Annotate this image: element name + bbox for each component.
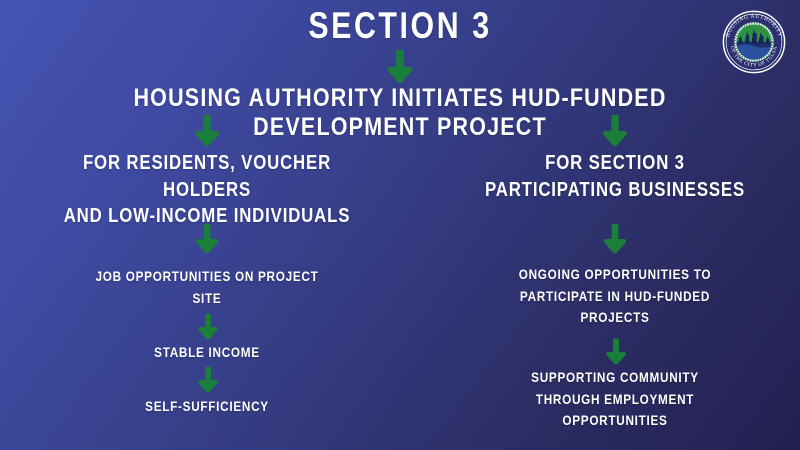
left-branch-step-stable-income: STABLE INCOME [39, 342, 375, 364]
page-title: SECTION 3 [72, 6, 728, 47]
left-branch-step-job-opportunities: JOB OPPORTUNITIES ON PROJECT SITE [39, 266, 375, 309]
arrow-down-icon-title-to-heading [382, 50, 418, 84]
arrow-down-icon-right-audience-to-ongoing [599, 222, 631, 256]
left-branch-audience: FOR RESIDENTS, VOUCHER HOLDERS AND LOW-I… [39, 150, 375, 230]
right-branch-step-ongoing-opportunities: ONGOING OPPORTUNITIES TO PARTICIPATE IN … [447, 264, 783, 329]
section-3-infographic: HOUSING AUTHORITY OF THE CITY OF TULSA S… [0, 0, 800, 450]
right-branch-step-supporting-community: SUPPORTING COMMUNITY THROUGH EMPLOYMENT … [447, 367, 783, 432]
main-heading: HOUSING AUTHORITY INITIATES HUD-FUNDED D… [56, 84, 744, 142]
left-branch-step-self-sufficiency: SELF-SUFFICIENCY [39, 396, 375, 418]
arrow-down-icon-jobs-to-stable-income [194, 313, 222, 341]
arrow-down-icon-ongoing-to-supporting-community [602, 338, 630, 366]
right-branch-audience: FOR SECTION 3 PARTICIPATING BUSINESSES [447, 150, 783, 203]
housing-authority-logo: HOUSING AUTHORITY OF THE CITY OF TULSA [720, 8, 788, 76]
arrow-down-icon-stable-income-to-self-sufficiency [194, 366, 222, 394]
